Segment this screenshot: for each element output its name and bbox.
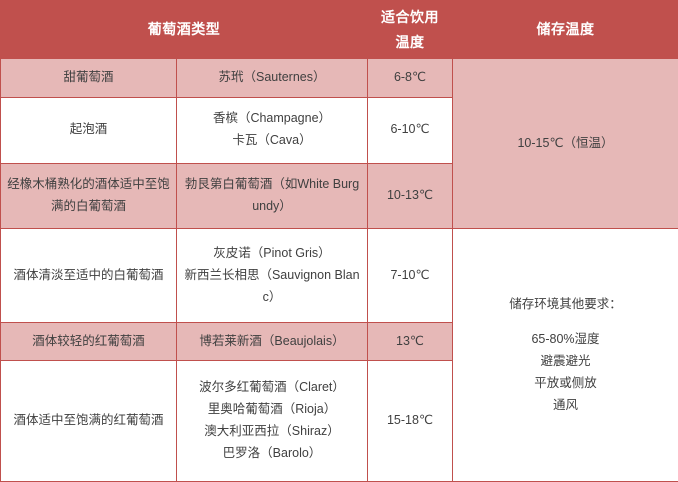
- spacer: [458, 315, 673, 329]
- storage-note: 避震避光: [540, 354, 590, 368]
- header-storage-temperature: 储存温度: [453, 1, 678, 59]
- cell-serving-temperature: 13℃: [368, 322, 453, 361]
- header-row: 葡萄酒类型 适合饮用 温度 储存温度: [1, 1, 678, 59]
- wine-example: 香槟（Champagne）: [213, 111, 331, 125]
- wine-example: 新西兰长相思（Sauvignon Blanc）: [184, 268, 359, 304]
- table-header: 葡萄酒类型 适合饮用 温度 储存温度: [1, 1, 678, 59]
- cell-wine-type: 经橡木桶熟化的酒体适中至饱满的白葡萄酒: [1, 163, 177, 229]
- wine-example: 波尔多红葡萄酒（Claret）: [199, 380, 345, 394]
- cell-wine-type: 酒体适中至饱满的红葡萄酒: [1, 361, 177, 482]
- table-row: 甜葡萄酒 苏玳（Sauternes） 6-8℃ 10-15℃（恒温）: [1, 59, 678, 98]
- header-serving-temperature-line2: 温度: [396, 34, 425, 50]
- wine-example: 巴罗洛（Barolo）: [223, 446, 322, 460]
- table-row: 酒体清淡至适中的白葡萄酒 灰皮诺（Pinot Gris） 新西兰长相思（Sauv…: [1, 229, 678, 322]
- storage-note: 通风: [553, 398, 578, 412]
- cell-wine-examples: 灰皮诺（Pinot Gris） 新西兰长相思（Sauvignon Blanc）: [177, 229, 368, 322]
- cell-serving-temperature: 15-18℃: [368, 361, 453, 482]
- wine-example: 灰皮诺（Pinot Gris）: [213, 246, 330, 260]
- cell-serving-temperature: 6-8℃: [368, 59, 453, 98]
- cell-wine-type: 起泡酒: [1, 97, 177, 163]
- cell-wine-examples: 博若莱新酒（Beaujolais）: [177, 322, 368, 361]
- cell-wine-type: 酒体较轻的红葡萄酒: [1, 322, 177, 361]
- cell-wine-examples: 波尔多红葡萄酒（Claret） 里奥哈葡萄酒（Rioja） 澳大利亚西拉（Shi…: [177, 361, 368, 482]
- cell-wine-examples: 香槟（Champagne） 卡瓦（Cava）: [177, 97, 368, 163]
- cell-wine-examples: 勃艮第白葡萄酒（如White Burgundy）: [177, 163, 368, 229]
- wine-example: 卡瓦（Cava）: [232, 133, 311, 147]
- storage-note: 平放或侧放: [534, 376, 597, 390]
- cell-serving-temperature: 6-10℃: [368, 97, 453, 163]
- storage-note: 65-80%湿度: [531, 332, 599, 346]
- table-body: 甜葡萄酒 苏玳（Sauternes） 6-8℃ 10-15℃（恒温） 起泡酒 香…: [1, 59, 678, 482]
- wine-example: 苏玳（Sauternes）: [219, 70, 326, 84]
- header-wine-type: 葡萄酒类型: [1, 1, 368, 59]
- header-serving-temperature: 适合饮用 温度: [368, 1, 453, 59]
- wine-example: 博若莱新酒（Beaujolais）: [199, 334, 344, 348]
- wine-example: 澳大利亚西拉（Shiraz）: [204, 424, 339, 438]
- cell-serving-temperature: 10-13℃: [368, 163, 453, 229]
- cell-wine-type: 酒体清淡至适中的白葡萄酒: [1, 229, 177, 322]
- wine-example: 里奥哈葡萄酒（Rioja）: [208, 402, 337, 416]
- header-serving-temperature-line1: 适合饮用: [381, 9, 439, 25]
- wine-example: 勃艮第白葡萄酒（如White Burgundy）: [185, 177, 359, 213]
- cell-storage-notes: 储存环境其他要求： 65-80%湿度 避震避光 平放或侧放 通风: [453, 229, 678, 482]
- cell-serving-temperature: 7-10℃: [368, 229, 453, 322]
- cell-storage-temperature: 10-15℃（恒温）: [453, 59, 678, 229]
- cell-wine-type: 甜葡萄酒: [1, 59, 177, 98]
- wine-serving-storage-temperature-table: 葡萄酒类型 适合饮用 温度 储存温度 甜葡萄酒 苏玳（Sauternes） 6-…: [0, 0, 678, 482]
- cell-wine-examples: 苏玳（Sauternes）: [177, 59, 368, 98]
- storage-notes-title: 储存环境其他要求：: [509, 297, 622, 311]
